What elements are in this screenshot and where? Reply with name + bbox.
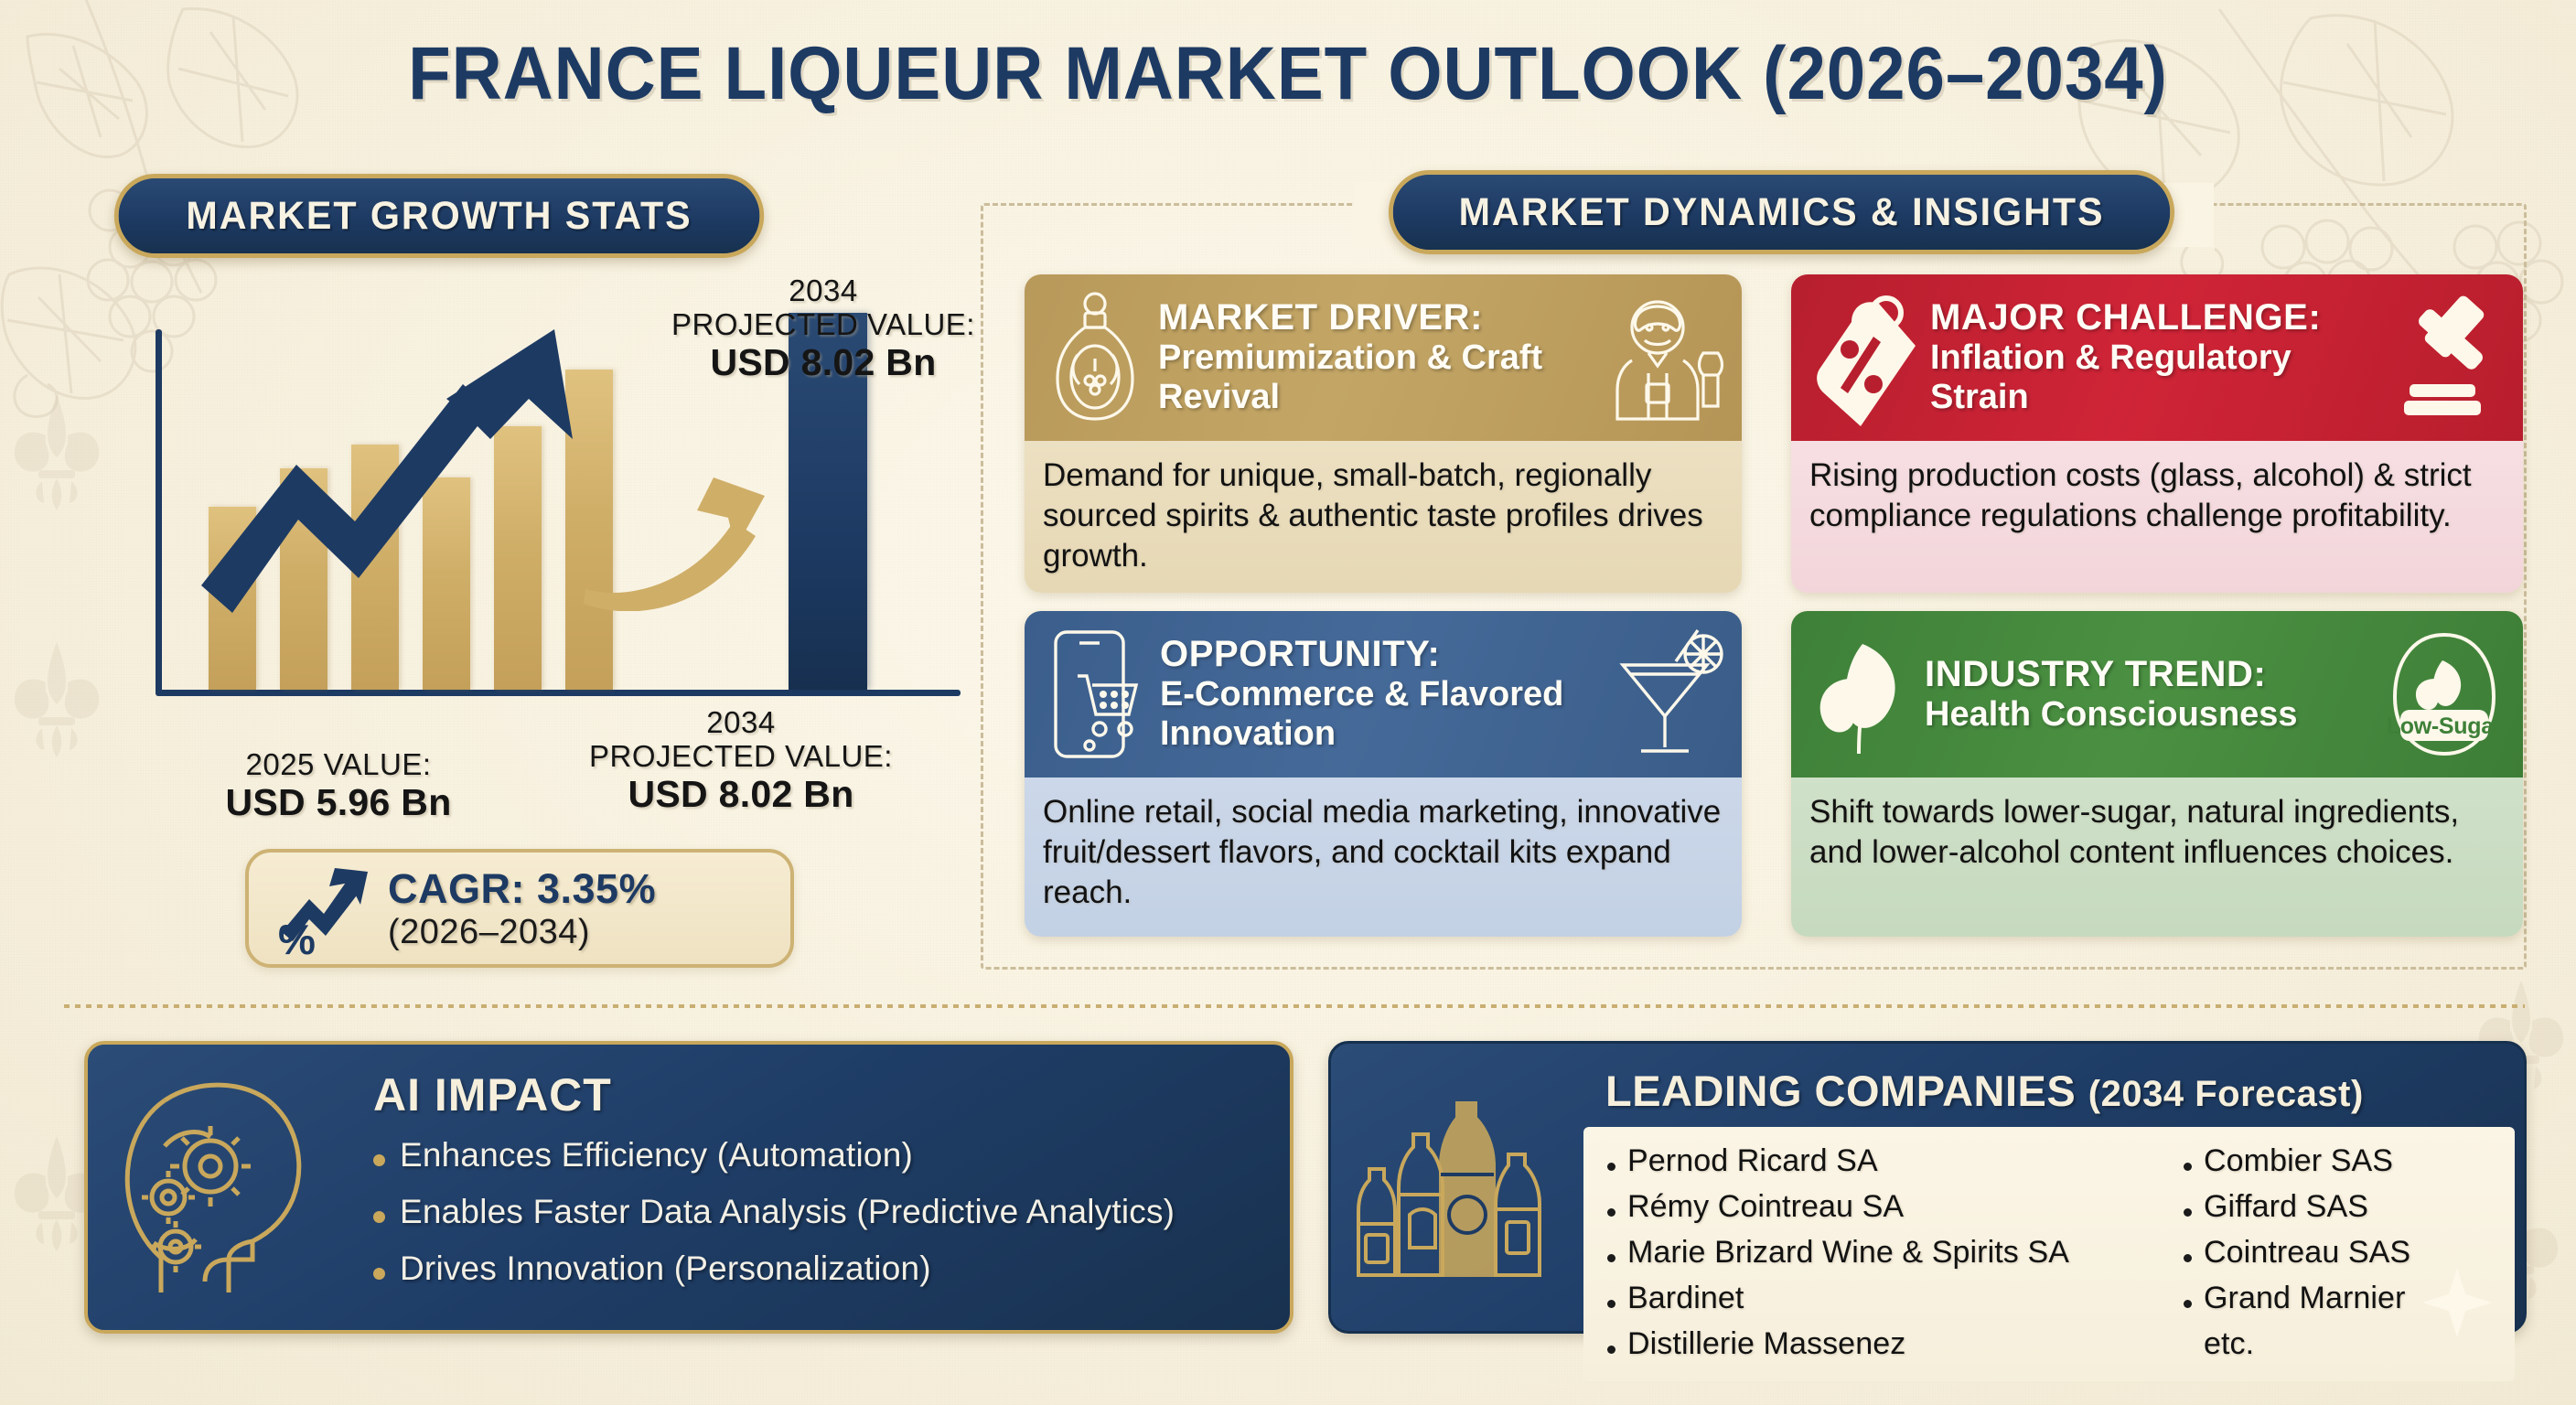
card-header: MAJOR CHALLENGE: Inflation & Regulatory … [1791, 274, 2523, 441]
list-item: Distillerie Massenez [1607, 1326, 2156, 1362]
page-title: FRANCE LIQUEUR MARKET OUTLOOK (2026–2034… [91, 31, 2486, 117]
chart-y-axis [156, 329, 162, 695]
bottles-group-icon [1349, 1078, 1560, 1297]
card-subtitle: E-Commerce & Flavored Innovation [1160, 675, 1601, 755]
bullet-icon [373, 1211, 385, 1223]
card-major-challenge: MAJOR CHALLENGE: Inflation & Regulatory … [1791, 274, 2523, 593]
card-subtitle: Premiumization & Craft Revival [1158, 338, 1599, 418]
forecast-curve-arrow-icon [576, 465, 787, 611]
cagr-period: (2026–2034) [388, 913, 656, 952]
bullet-icon [2184, 1163, 2192, 1171]
card-title: MAJOR CHALLENGE: [1930, 297, 2378, 338]
liqueur-bottle-icon [1041, 289, 1149, 426]
list-item: Enables Faster Data Analysis (Predictive… [373, 1193, 1268, 1231]
list-item-etc: etc. [2184, 1326, 2410, 1362]
cagr-badge: % CAGR: 3.35% (2026–2034) [245, 849, 794, 968]
ai-impact-list: Enhances Efficiency (Automation) Enables… [373, 1136, 1268, 1288]
leaf-icon [1808, 626, 1916, 763]
bullet-icon [373, 1268, 385, 1280]
card-body: Shift towards lower-sugar, natural ingre… [1791, 778, 2523, 937]
chart-forecast-value-label: 2034 PROJECTED VALUE: USD 8.02 Bn [549, 706, 933, 816]
fleur-de-lis-watermark [11, 640, 102, 759]
bullet-icon [1607, 1254, 1615, 1262]
list-item: Cointreau SAS [2184, 1235, 2410, 1271]
card-title: INDUSTRY TREND: [1925, 654, 2373, 695]
list-item: Bardinet [1607, 1281, 2156, 1316]
section-header-market-growth-stats: MARKET GROWTH STATS [114, 174, 764, 258]
bullet-icon [1607, 1163, 1615, 1171]
bullet-icon [1607, 1208, 1615, 1217]
mobile-shopping-cart-icon [1041, 625, 1151, 764]
brain-gears-icon [110, 1064, 338, 1311]
list-item: Marie Brizard Wine & Spirits SA [1607, 1235, 2156, 1271]
list-item: Grand Marnier [2184, 1281, 2410, 1316]
low-sugar-badge-icon: Low-Sugar [2382, 626, 2506, 763]
cocktail-glass-icon [1610, 625, 1725, 764]
card-industry-trend: INDUSTRY TREND: Health Consciousness Low… [1791, 611, 2523, 937]
price-tag-percent-icon [1808, 289, 1921, 426]
card-header: MARKET DRIVER: Premiumization & Craft Re… [1025, 274, 1742, 441]
card-body: Online retail, social media marketing, i… [1025, 778, 1742, 937]
bullet-icon [2184, 1300, 2192, 1308]
bullet-icon [1607, 1346, 1615, 1354]
chart-x-axis [156, 690, 961, 696]
list-item: Rémy Cointreau SA [1607, 1189, 2156, 1225]
fleur-de-lis-watermark [11, 393, 102, 512]
section-divider [64, 1004, 2525, 1008]
card-subtitle: Health Consciousness [1925, 695, 2373, 735]
gavel-icon [2388, 289, 2506, 426]
cagr-value: CAGR: 3.35% [388, 865, 656, 913]
company-column-right: Combier SAS Giffard SAS Cointreau SAS Gr… [2184, 1143, 2410, 1372]
card-opportunity: OPPORTUNITY: E-Commerce & Flavored Innov… [1025, 611, 1742, 937]
list-item: Combier SAS [2184, 1143, 2410, 1179]
ai-impact-title: AI IMPACT [373, 1068, 1268, 1121]
card-header: INDUSTRY TREND: Health Consciousness Low… [1791, 611, 2523, 778]
leading-companies-box: Pernod Ricard SA Rémy Cointreau SA Marie… [1583, 1127, 2515, 1381]
card-market-driver: MARKET DRIVER: Premiumization & Craft Re… [1025, 274, 1742, 593]
bullet-icon [1607, 1300, 1615, 1308]
list-item: Drives Innovation (Personalization) [373, 1249, 1268, 1288]
card-title: OPPORTUNITY: [1160, 634, 1601, 675]
list-item: Pernod Ricard SA [1607, 1143, 2156, 1179]
panel-leading-companies: LEADING COMPANIES (2034 Forecast) Pernod… [1328, 1041, 2527, 1334]
section-header-market-dynamics: MARKET DYNAMICS & INSIGHTS [1389, 170, 2174, 254]
card-subtitle: Inflation & Regulatory Strain [1930, 338, 2378, 418]
bullet-icon [2184, 1254, 2192, 1262]
bullet-icon [373, 1154, 385, 1166]
card-body: Rising production costs (glass, alcohol)… [1791, 441, 2523, 593]
svg-text:%: % [278, 916, 316, 958]
company-column-left: Pernod Ricard SA Rémy Cointreau SA Marie… [1607, 1143, 2156, 1372]
chart-base-value-label: 2025 VALUE: USD 5.96 Bn [174, 748, 503, 824]
bullet-icon [2184, 1208, 2192, 1217]
list-item: Giffard SAS [2184, 1189, 2410, 1225]
card-body: Demand for unique, small-batch, regional… [1025, 441, 1742, 593]
trending-up-percent-icon: % [273, 859, 375, 958]
leading-companies-title: LEADING COMPANIES (2034 Forecast) [1578, 1053, 2524, 1127]
panel-ai-impact: AI IMPACT Enhances Efficiency (Automatio… [84, 1041, 1293, 1334]
card-title: MARKET DRIVER: [1158, 297, 1599, 338]
list-item: Enhances Efficiency (Automation) [373, 1136, 1268, 1174]
card-header: OPPORTUNITY: E-Commerce & Flavored Innov… [1025, 611, 1742, 778]
market-growth-chart: 2034 PROJECTED VALUE: USD 8.02 Bn [101, 302, 970, 759]
low-sugar-badge-label: Low-Sugar [2382, 713, 2506, 740]
chart-top-forecast-label: 2034 PROJECTED VALUE: USD 8.02 Bn [640, 274, 1006, 384]
bartender-icon [1608, 289, 1725, 426]
